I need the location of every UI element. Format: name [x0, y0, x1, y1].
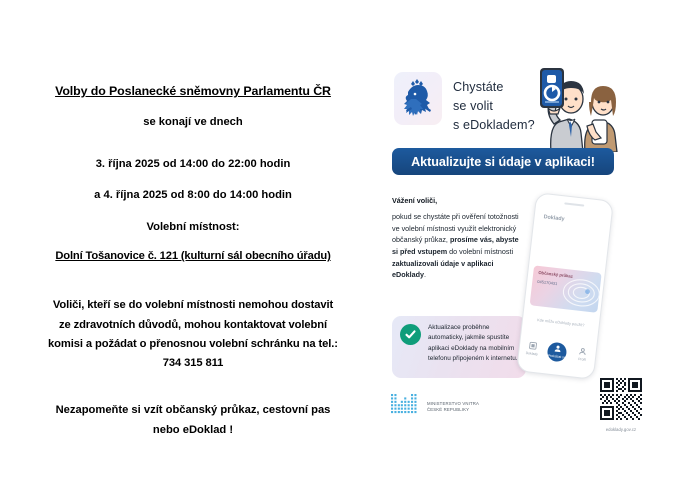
- app-heading: Doklady: [543, 214, 565, 222]
- portable-phone-number: 734 315 811: [22, 354, 364, 373]
- flyer-banner: Chystáte se volit s eDokladem?: [391, 70, 619, 135]
- id-card[interactable]: Občanský průkaz 045170431: [530, 265, 602, 312]
- ministry-logo: MINISTERSTVO VNITRA ČESKÉ REPUBLIKY: [391, 394, 511, 424]
- election-notice: Volby do Poslanecké sněmovny Parlamentu …: [0, 0, 386, 495]
- cta-label: Aktualizujte si údaje v aplikaci!: [411, 155, 595, 169]
- portable-line: Voliči, kteří se do volební místnosti ne…: [22, 296, 364, 315]
- qr-code-icon: [600, 378, 642, 420]
- nav-label: Doklady: [525, 351, 538, 356]
- edoklady-flyer: Chystáte se volit s eDokladem?: [386, 0, 699, 495]
- nav-item-profil[interactable]: Profil: [571, 346, 594, 362]
- election-dates: 3. října 2025 od 14:00 do 22:00 hodin a …: [22, 159, 364, 201]
- reminder-line: nebo eDoklad !: [22, 421, 364, 440]
- ministry-dotted-m-logo: [391, 394, 423, 416]
- salutation: Vážení voliči,: [392, 196, 437, 205]
- callout-text: Aktualizace proběhne automaticky, jakmil…: [428, 323, 520, 365]
- qr-code-block[interactable]: edoklady.gov.cz: [598, 378, 644, 432]
- election-date-line: a 4. října 2025 od 8:00 do 14:00 hodin: [22, 190, 364, 201]
- nav-item-prokazat-se[interactable]: Prokázat se: [546, 341, 570, 362]
- body-text-part: do volební místnosti: [447, 247, 513, 256]
- phone-bottom-nav: Doklady Prokázat se: [519, 336, 597, 366]
- check-circle-icon: [400, 324, 421, 345]
- ministry-name: MINISTERSTVO VNITRA ČESKÉ REPUBLIKY: [427, 401, 479, 414]
- nav-item-doklady[interactable]: Doklady: [521, 341, 544, 357]
- phone-hint-text: Kde můžu eDoklady použít?: [523, 316, 599, 329]
- nav-label: Prokázat se: [548, 353, 566, 359]
- body-text-part: .: [424, 270, 426, 279]
- documents-reminder: Nezapomeňte si vzít občanský průkaz, ces…: [22, 401, 364, 440]
- czech-lion-emblem-icon: [394, 72, 442, 125]
- portable-ballot-box-info: Voliči, kteří se do volební místnosti ne…: [22, 296, 364, 373]
- phone-screen: Doklady Občanský průkaz 045170431 Kde mů…: [516, 192, 614, 380]
- flyer-body-paragraph: pokud se chystáte při ověření totožnosti…: [392, 211, 524, 281]
- phone-speaker: [564, 202, 584, 207]
- notice-subtitle: se konají ve dnech: [22, 116, 364, 128]
- portable-line: ze zdravotních důvodů, mohou kontaktovat…: [22, 316, 364, 335]
- nav-active-bubble: Prokázat se: [547, 341, 568, 362]
- polling-place-address: Dolní Tošanovice č. 121 (kulturní sál ob…: [22, 250, 364, 262]
- qr-caption: edoklady.gov.cz: [598, 427, 644, 432]
- polling-place-label: Volební místnost:: [22, 221, 364, 233]
- phone-mockup: Doklady Občanský průkaz 045170431 Kde mů…: [516, 192, 614, 380]
- body-text-bold: zaktualizovali údaje v aplikaci eDoklady: [392, 259, 493, 280]
- person-badge-icon: [553, 344, 562, 353]
- reminder-line: Nezapomeňte si vzít občanský průkaz, ces…: [22, 401, 364, 420]
- page-title: Volby do Poslanecké sněmovny Parlamentu …: [22, 84, 364, 99]
- auto-update-callout: Aktualizace proběhne automaticky, jakmil…: [392, 316, 526, 378]
- people-with-phones-illustration: [521, 66, 625, 152]
- portable-line: komisi a požádat o přenosnou volební sch…: [22, 335, 364, 354]
- ministry-line-2: ČESKÉ REPUBLIKY: [427, 407, 479, 413]
- documents-icon: [528, 342, 537, 351]
- profile-icon: [579, 347, 588, 356]
- update-app-cta-button[interactable]: Aktualizujte si údaje v aplikaci!: [392, 148, 614, 175]
- nav-label: Profil: [578, 357, 586, 362]
- election-date-line: 3. října 2025 od 14:00 do 22:00 hodin: [22, 159, 364, 170]
